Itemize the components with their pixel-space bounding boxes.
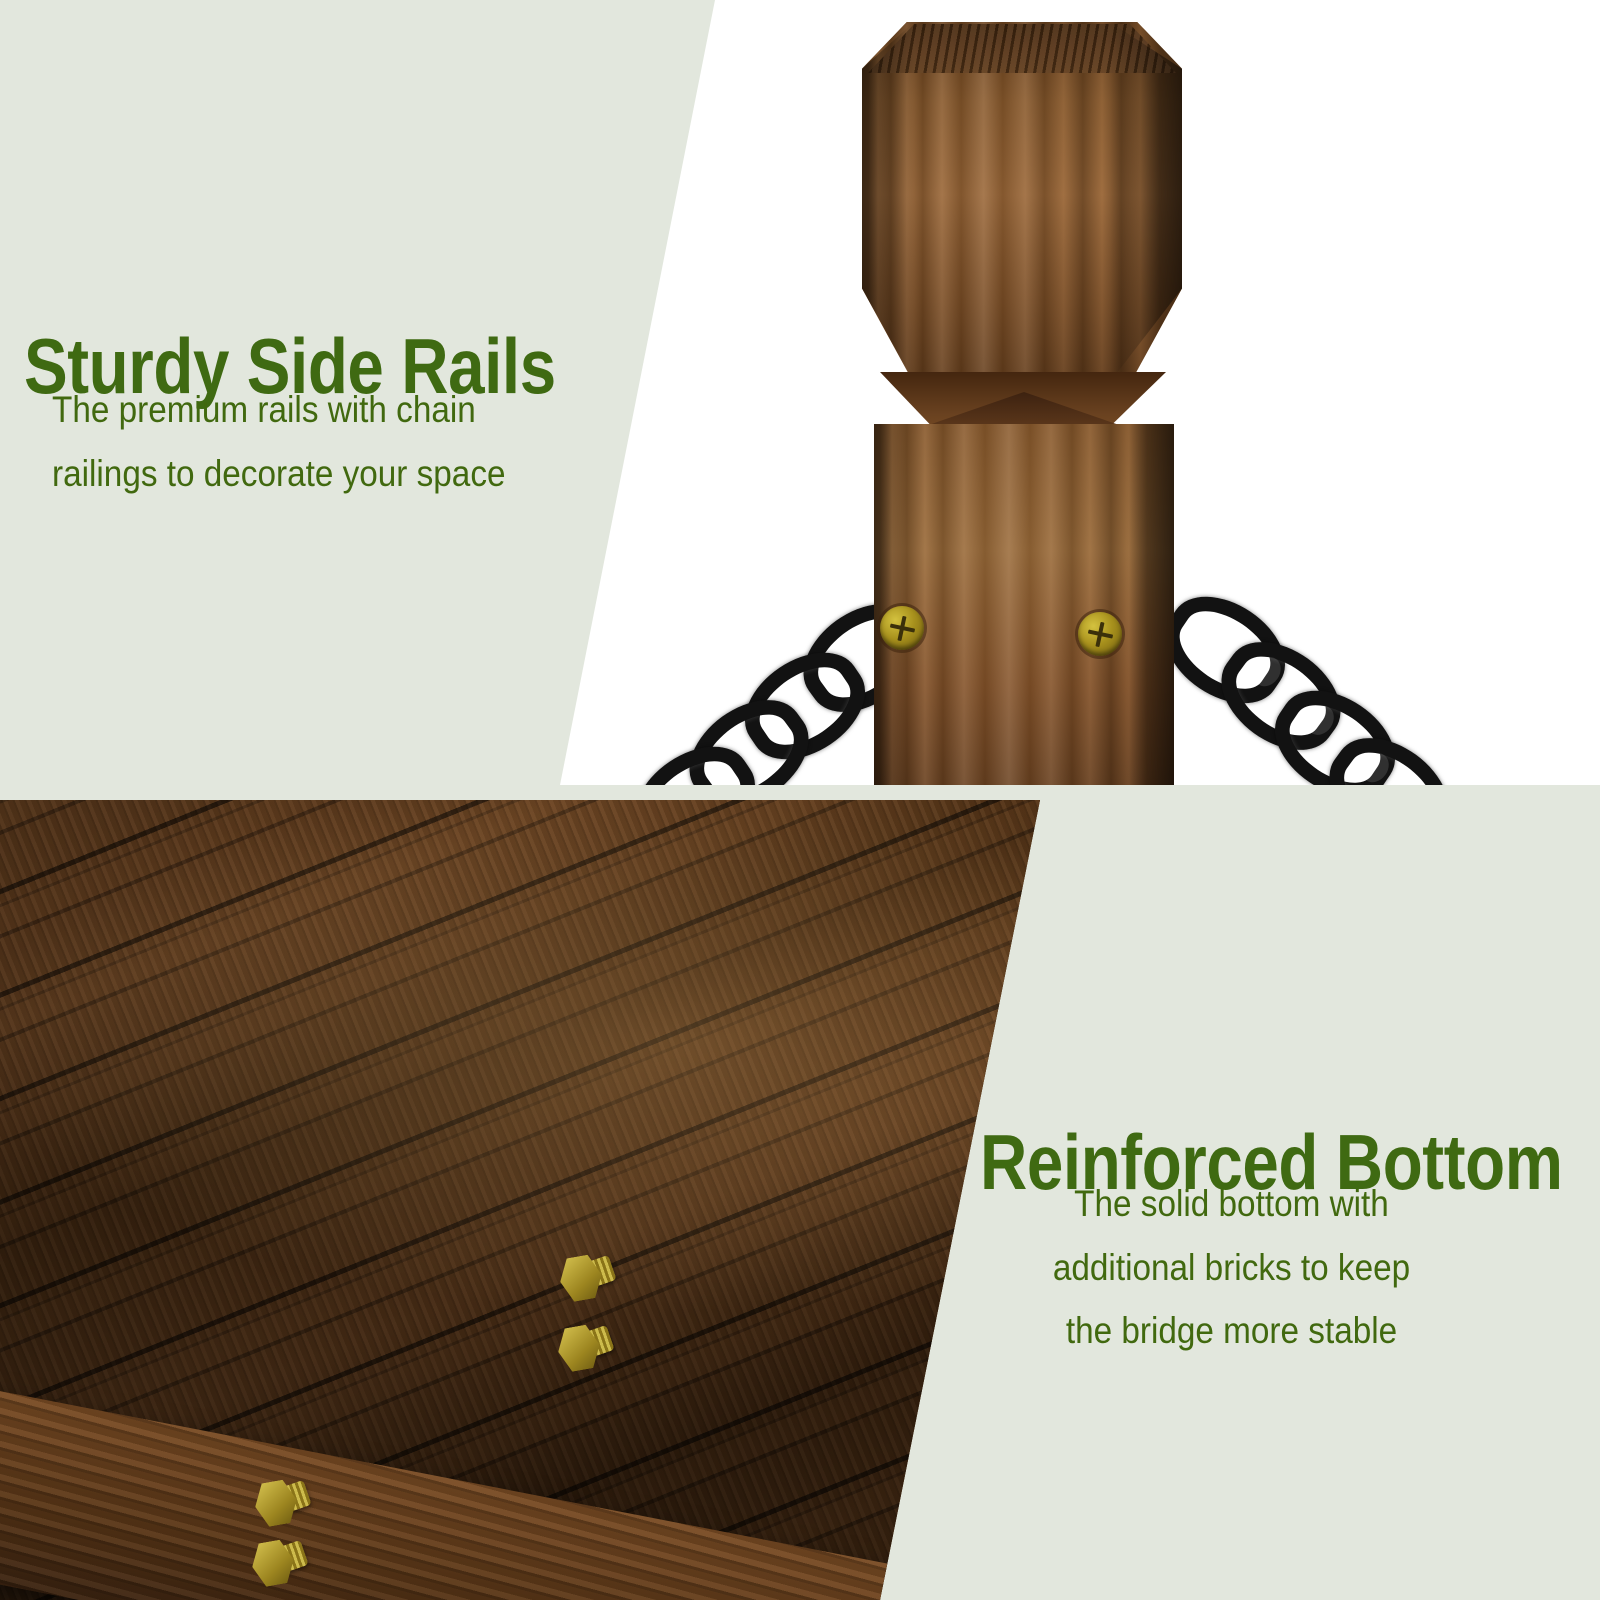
- brass-screw-icon: [1078, 612, 1122, 656]
- description-line: The solid bottom with: [1020, 1172, 1443, 1236]
- product-feature-collage: Sturdy Side Rails The premium rails with…: [0, 0, 1600, 1600]
- brass-screw-icon: [880, 606, 924, 650]
- finial-shadow-right: [1110, 22, 1182, 382]
- description-line: additional bricks to keep: [1020, 1236, 1443, 1300]
- brass-hex-bolt-icon: [556, 1250, 619, 1305]
- brass-hex-bolt-icon: [248, 1535, 311, 1590]
- feature-section-sturdy-side-rails: Sturdy Side Rails The premium rails with…: [0, 0, 1600, 785]
- post-shadow-left: [874, 424, 908, 785]
- feature-description-reinforced-bottom: The solid bottom with additional bricks …: [1020, 1172, 1443, 1363]
- description-line: railings to decorate your space: [52, 442, 556, 506]
- description-line: the bridge more stable: [1020, 1299, 1443, 1363]
- finial-shadow-left: [862, 22, 914, 382]
- post-shadow-right: [1126, 424, 1174, 785]
- description-line: The premium rails with chain: [52, 378, 556, 442]
- brass-hex-bolt-icon: [251, 1475, 314, 1530]
- brass-hex-bolt-icon: [554, 1320, 617, 1375]
- feature-description-sturdy-side-rails: The premium rails with chain railings to…: [52, 378, 556, 505]
